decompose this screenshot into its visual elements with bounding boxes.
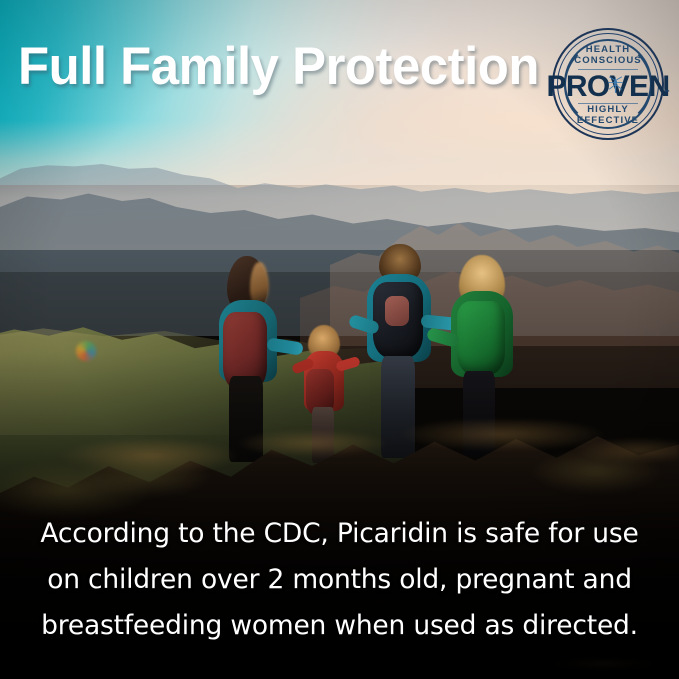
badge-top-line-1: HEALTH [552,44,664,55]
lens-flare-artifact [76,341,96,361]
mosquito-icon [607,76,624,97]
badge-top-line-2: CONSCIOUS [552,55,664,66]
caption-line-1: According to the CDC, Picaridin is safe … [0,511,679,557]
foreground-grass-right [520,432,679,512]
badge-top-text: HEALTH CONSCIOUS [552,44,664,66]
badge-bottom-line-2: EFFECTIVE [552,115,664,126]
caption-line-2: on children over 2 months old, pregnant … [0,557,679,603]
boy-backpack-stripe [385,296,409,326]
proven-seal-badge: HEALTH CONSCIOUS PROVEN HIGHLY EFFECTIVE [552,28,664,140]
page-title: Full Family Protection [18,37,539,97]
girl-backpack [457,301,505,375]
trademark-symbol: ™ [664,90,670,96]
badge-bottom-text: HIGHLY EFFECTIVE [552,104,664,126]
bottom-light-highlight [548,655,658,673]
caption-line-3: breastfeeding women when used as directe… [0,603,679,649]
promotional-ad-card: Full Family Protection HEALTH CONSCIOUS … [0,0,679,679]
badge-bottom-line-1: HIGHLY [552,104,664,115]
caption-block: According to the CDC, Picaridin is safe … [0,511,679,649]
